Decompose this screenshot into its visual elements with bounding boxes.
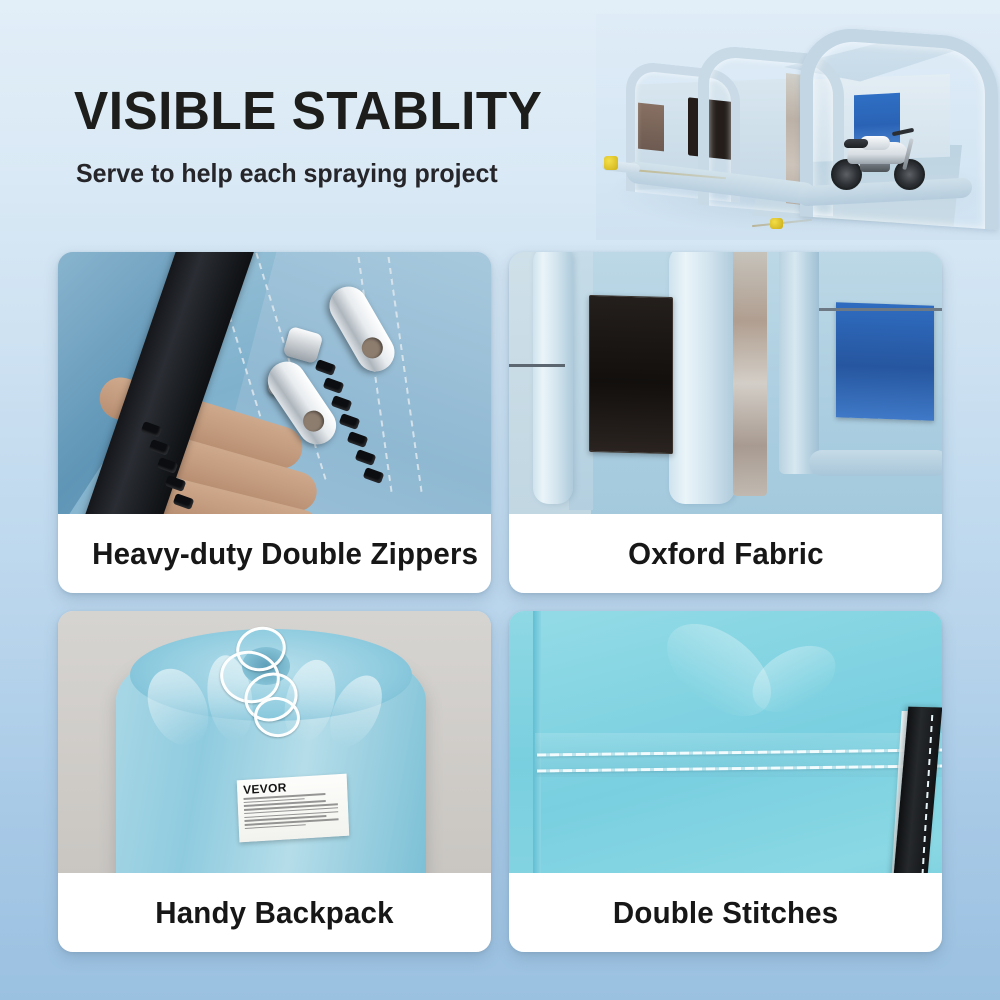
feature-card-oxford-fabric[interactable]: Oxford Fabric [509,252,942,593]
booth-valve-front [770,218,783,229]
motorcycle-handlebar [892,128,914,136]
infographic-page: VISIBLE STABLITY Serve to help each spra… [0,0,1000,1000]
zipper-tooth [363,467,385,484]
card-caption-text: Double Stitches [613,895,838,931]
zipper-tooth [323,377,345,394]
hero-product-image [596,14,1000,240]
feature-card-heavy-duty-double-zippers[interactable]: Heavy-duty Double Zippers [58,252,491,593]
zipper-tooth [347,431,369,448]
card-caption-text: Oxford Fabric [628,536,824,572]
wall-strap-left [509,364,565,367]
booth-column-far-left [533,252,573,504]
page-subtitle: Serve to help each spraying project [76,160,498,186]
card-caption-bar: Handy Backpack [58,873,491,952]
booth-valve-left [604,156,618,170]
card-caption-bar: Heavy-duty Double Zippers [58,514,491,593]
card-caption-bar: Double Stitches [509,873,942,952]
motorcycle-illustration [830,130,926,190]
label-brand-text: VEVOR [243,778,341,796]
motorcycle-seat [843,139,869,148]
booth-base-rail [809,450,942,476]
feature-card-double-stitches[interactable]: Double Stitches [509,611,942,952]
product-label: VEVOR [237,774,349,843]
zipper-tooth [331,395,353,412]
feature-card-handy-backpack[interactable]: VEVOR Handy Backpack [58,611,491,952]
card-caption-bar: Oxford Fabric [509,514,942,593]
zipper-tooth [355,449,377,466]
zipper-tooth [165,475,187,492]
feature-card-grid: Heavy-duty Double Zippers Oxford Fabric [58,252,942,952]
card-caption-text: Heavy-duty Double Zippers [92,536,478,572]
booth-column-center [669,252,735,504]
page-title: VISIBLE STABLITY [74,84,542,138]
blue-filter-panel [836,302,934,420]
zipper-tooth [149,439,171,456]
zipper-tooth [315,359,337,376]
filter-hanger-rail [819,308,942,311]
card-caption-text: Handy Backpack [155,895,393,931]
zipper-tooth [141,421,163,438]
zipper-tooth [339,413,361,430]
booth-door-frame [779,252,819,474]
inflatable-booth-illustration [602,22,994,230]
zipper-tooth [173,493,195,510]
plastic-wrapped-column [733,252,767,496]
zipper-tooth [157,457,179,474]
mesh-window-panel [589,295,673,454]
